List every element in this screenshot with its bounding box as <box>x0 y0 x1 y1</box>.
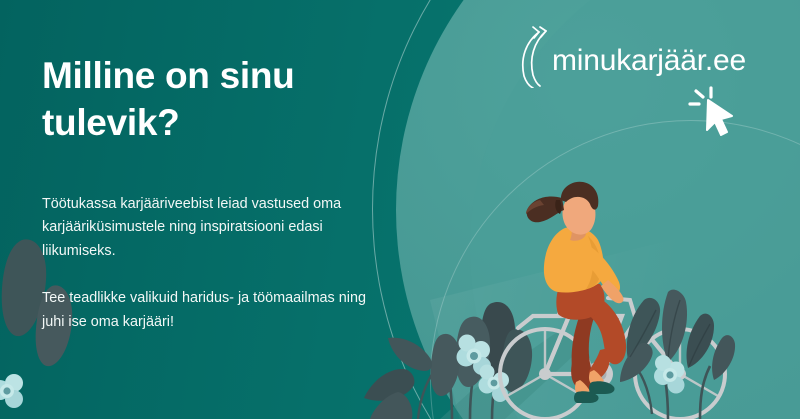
body-paragraph-1: Töötukassa karjääriveebist leiad vastuse… <box>42 193 387 263</box>
page-title: Milline on sinu tulevik? <box>42 53 372 147</box>
brand-logo[interactable]: minukarjäär.ee <box>516 18 766 92</box>
body-copy: Töötukassa karjääriveebist leiad vastuse… <box>42 193 387 334</box>
logo-wordmark: minukarjäär.ee <box>552 44 746 78</box>
click-cursor-icon <box>686 86 742 140</box>
flower-left-edge <box>0 374 23 408</box>
marketing-banner: Milline on sinu tulevik? Töötukassa karj… <box>0 0 800 419</box>
shoe-front <box>589 381 615 394</box>
body-paragraph-2: Tee teadlikke valikuid haridus- ja tööma… <box>42 287 387 334</box>
